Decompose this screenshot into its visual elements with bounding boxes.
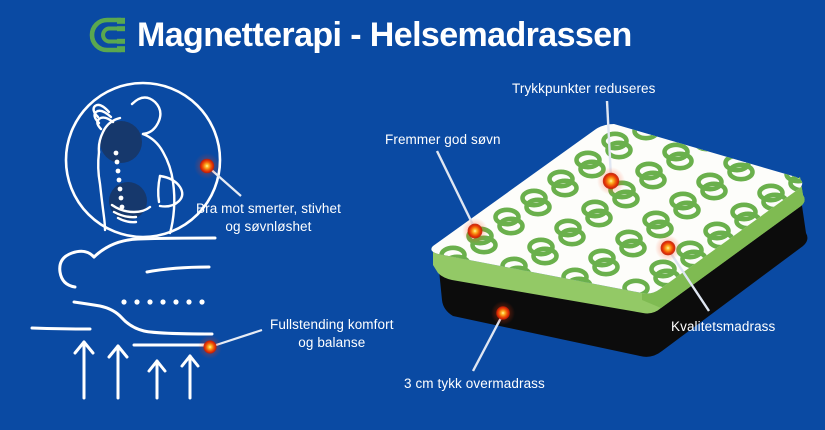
support-arrow-1 [75, 342, 93, 398]
arm-line [147, 267, 209, 272]
callout-label-pressure-line1: Trykkpunkter reduseres [512, 80, 656, 98]
support-arrow-3 [149, 361, 165, 398]
hotspot-marker-quality [655, 235, 681, 261]
infographic-root: Magnetterapi - Helsemadrassen [0, 0, 825, 430]
callout-label-comfort-line2: og balanse [270, 334, 394, 352]
callout-label-comfort: Fullstending komfort og balanse [270, 316, 394, 352]
hotspot-marker-thickness [491, 301, 515, 325]
lying-person-support-illustration [32, 238, 262, 398]
pain-point-lower-back [109, 182, 147, 220]
body-bottom-line [74, 302, 212, 334]
body-top-line [94, 238, 215, 257]
support-arrow-4 [182, 356, 198, 398]
spine-dots-lying [121, 299, 204, 304]
support-arrows [75, 342, 198, 398]
callout-label-thickness: 3 cm tykk overmadrass [404, 375, 545, 393]
illustration-canvas [0, 0, 825, 430]
hotspot-marker-pressure [597, 167, 625, 195]
callout-label-pain-line1: Bra mot smerter, stivhet [196, 200, 341, 218]
callout-label-sleep-line1: Fremmer god søvn [385, 131, 501, 149]
callout-label-quality-line1: Kvalitetsmadrass [671, 318, 775, 336]
callout-label-pressure: Trykkpunkter reduseres [512, 80, 656, 98]
hotspot-marker-sleep [462, 218, 488, 244]
mattress-line-left [32, 328, 90, 329]
hotspot-marker-pain [194, 153, 220, 179]
hotspot-marker-comfort [198, 335, 222, 359]
callout-label-quality: Kvalitetsmadrass [671, 318, 775, 336]
callout-label-comfort-line1: Fullstending komfort [270, 316, 394, 334]
head-outline [60, 251, 94, 287]
callout-label-thickness-line1: 3 cm tykk overmadrass [404, 375, 545, 393]
callout-label-pain: Bra mot smerter, stivhet og søvnløshet [196, 200, 341, 236]
callout-label-pain-line2: og søvnløshet [196, 218, 341, 236]
support-arrow-2 [109, 346, 127, 398]
body-outline [94, 97, 183, 233]
callout-line-sleep [437, 151, 475, 229]
callout-label-sleep: Fremmer god søvn [385, 131, 501, 149]
